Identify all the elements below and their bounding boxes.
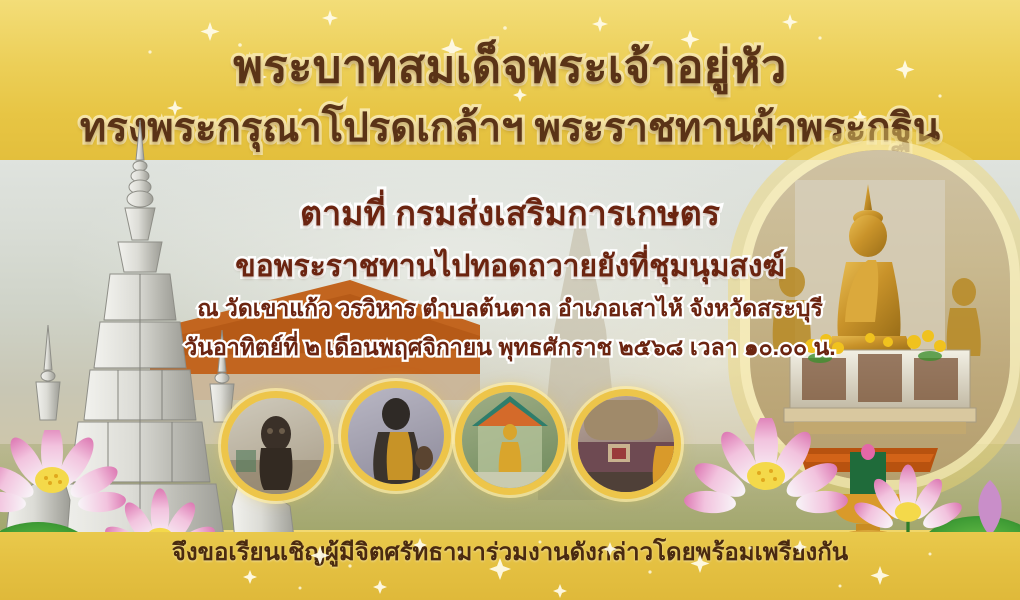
venue-line: ณ วัดเขาแก้ว วรวิหาร ตำบลต้นตาล อำเภอเสา… [0,291,1020,327]
body-line-1: ตามที่ กรมส่งเสริมการเกษตร [0,186,1020,240]
ceremony-banner: พระบาทสมเด็จพระเจ้าอยู่หัว ทรงพระกรุณาโป… [0,0,1020,600]
medallion-shrine-interior [578,396,674,492]
datetime-line: วันอาทิตย์ที่ ๒ เดือนพฤศจิกายน พุทธศักรา… [0,330,1020,366]
footer-sparkles [0,532,1020,600]
body-line-2: ขอพระราชทานไปทอดถวายยังที่ชุมนุมสงฆ์ [0,243,1020,290]
medallion-seated-sage [348,388,444,484]
medallion-standing-buddha [462,392,558,488]
footer-band: จึงขอเรียนเชิญผู้มีจิตศรัทธามาร่วมงานดัง… [0,532,1020,600]
title-line-1: พระบาทสมเด็จพระเจ้าอยู่หัว [0,30,1020,102]
